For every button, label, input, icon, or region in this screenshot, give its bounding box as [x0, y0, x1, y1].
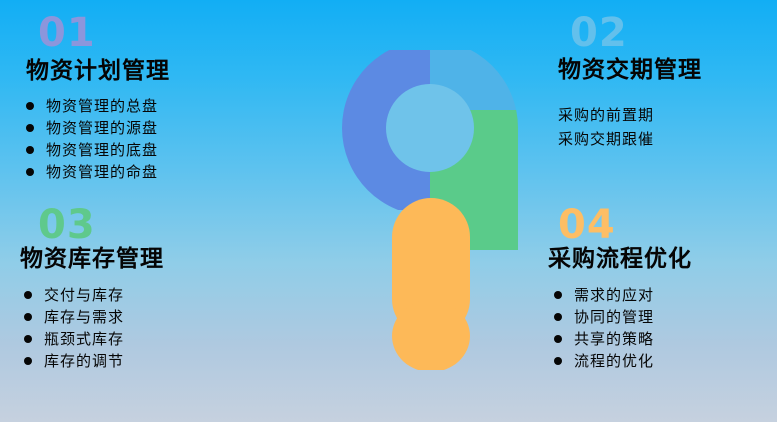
text-line: 采购交期跟催: [558, 127, 760, 151]
quadrant-03: 03 物资库存管理 交付与库存 库存与需求 瓶颈式库存 库存的调节: [16, 206, 346, 372]
list-item: 交付与库存: [24, 284, 346, 306]
bullet-dot-icon: [26, 124, 34, 132]
list-item: 流程的优化: [554, 350, 760, 372]
list-item: 瓶颈式库存: [24, 328, 346, 350]
quadrant-04: 04 采购流程优化 需求的应对 协同的管理 共享的策略 流程的优化: [430, 206, 760, 372]
quadrant-01-number: 01: [38, 14, 346, 52]
bullet-dot-icon: [26, 146, 34, 154]
text-line: 采购的前置期: [558, 103, 760, 127]
bullet-dot-icon: [24, 291, 32, 299]
bullet-dot-icon: [554, 335, 562, 343]
quadrant-01: 01 物资计划管理 物资管理的总盘 物资管理的源盘 物资管理的底盘 物资管理的命…: [16, 14, 346, 183]
list-item: 物资管理的底盘: [26, 139, 346, 161]
bullet-dot-icon: [24, 357, 32, 365]
list-item: 物资管理的命盘: [26, 161, 346, 183]
list-item-label: 库存的调节: [44, 352, 124, 370]
list-item-label: 交付与库存: [44, 286, 124, 304]
list-item-label: 物资管理的总盘: [46, 97, 158, 115]
list-item: 需求的应对: [554, 284, 760, 306]
list-item-label: 物资管理的底盘: [46, 141, 158, 159]
bullet-dot-icon: [26, 168, 34, 176]
list-item-label: 瓶颈式库存: [44, 330, 124, 348]
bullet-dot-icon: [554, 291, 562, 299]
slide-canvas: 01 物资计划管理 物资管理的总盘 物资管理的源盘 物资管理的底盘 物资管理的命…: [0, 0, 777, 422]
list-item: 协同的管理: [554, 306, 760, 328]
list-item-label: 物资管理的命盘: [46, 163, 158, 181]
list-item: 共享的策略: [554, 328, 760, 350]
list-item-label: 物资管理的源盘: [46, 119, 158, 137]
list-item: 库存与需求: [24, 306, 346, 328]
quadrant-01-bullet-list: 物资管理的总盘 物资管理的源盘 物资管理的底盘 物资管理的命盘: [26, 95, 346, 183]
list-item-label: 需求的应对: [574, 286, 654, 304]
quadrant-03-title: 物资库存管理: [20, 245, 346, 274]
bullet-dot-icon: [26, 102, 34, 110]
bullet-dot-icon: [554, 313, 562, 321]
list-item: 物资管理的源盘: [26, 117, 346, 139]
quadrant-02-title: 物资交期管理: [558, 56, 760, 85]
quadrant-03-bullet-list: 交付与库存 库存与需求 瓶颈式库存 库存的调节: [24, 284, 346, 372]
list-item-label: 协同的管理: [574, 308, 654, 326]
bullet-dot-icon: [24, 313, 32, 321]
list-item-label: 库存与需求: [44, 308, 124, 326]
quadrant-03-number: 03: [38, 206, 346, 244]
list-item: 库存的调节: [24, 350, 346, 372]
quadrant-04-number: 04: [558, 206, 760, 244]
quadrant-02: 02 物资交期管理 采购的前置期 采购交期跟催: [430, 14, 760, 151]
quadrant-02-text-block: 采购的前置期 采购交期跟催: [558, 103, 760, 151]
list-item: 物资管理的总盘: [26, 95, 346, 117]
bullet-dot-icon: [24, 335, 32, 343]
quadrant-02-number: 02: [570, 14, 760, 52]
bullet-dot-icon: [554, 357, 562, 365]
list-item-label: 流程的优化: [574, 352, 654, 370]
quadrant-04-title: 采购流程优化: [548, 245, 760, 274]
quadrant-01-title: 物资计划管理: [26, 57, 346, 86]
quadrant-04-bullet-list: 需求的应对 协同的管理 共享的策略 流程的优化: [554, 284, 760, 372]
list-item-label: 共享的策略: [574, 330, 654, 348]
